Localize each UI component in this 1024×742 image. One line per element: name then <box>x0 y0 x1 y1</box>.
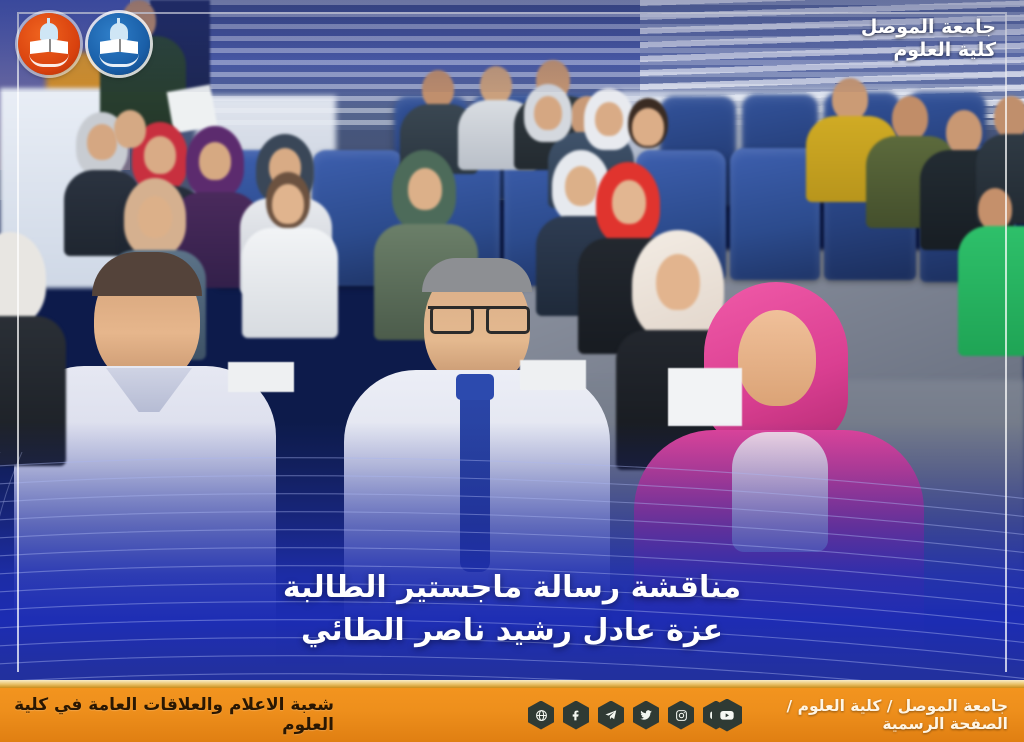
head <box>656 254 700 310</box>
seal-emblem <box>27 22 71 66</box>
footer-top-strip <box>0 680 1024 688</box>
seal-arc <box>99 53 139 67</box>
event-title-block: مناقشة رسالة ماجستير الطالبة عزة عادل رش… <box>0 568 1024 650</box>
head <box>595 102 623 136</box>
face <box>632 108 664 146</box>
head <box>408 168 442 210</box>
college-name: كلية العلوم <box>861 39 996 62</box>
seal-arc <box>29 53 69 67</box>
college-of-science-seal-icon <box>88 13 150 75</box>
official-page-label: جامعة الموصل / كلية العلوم / الصفحة الرس… <box>740 697 1008 733</box>
facebook-icon[interactable] <box>563 701 589 730</box>
hair <box>422 258 532 292</box>
head <box>946 110 982 154</box>
face <box>272 184 304 224</box>
telegram-icon[interactable] <box>598 701 624 730</box>
university-name: جامعة الموصل <box>861 16 996 39</box>
head <box>978 188 1012 230</box>
paper-on-seat <box>668 368 742 426</box>
head <box>994 96 1024 138</box>
poster-root: جامعة الموصل كلية العلوم مناقشة رسالة ما… <box>0 0 1024 742</box>
event-title-line2: عزة عادل رشيد ناصر الطائي <box>0 611 1024 650</box>
dome-shape <box>40 23 58 40</box>
tie-knot <box>456 374 494 400</box>
open-book-shape <box>30 39 68 54</box>
instagram-icon[interactable] <box>668 701 694 730</box>
paper-on-seat <box>228 362 294 392</box>
paper-on-seat <box>520 360 586 390</box>
glasses-lens-right <box>486 306 530 334</box>
glasses-lens-left <box>430 306 474 334</box>
twitter-icon[interactable] <box>633 701 659 730</box>
head <box>565 166 597 206</box>
head <box>87 124 117 160</box>
head <box>199 142 231 180</box>
footer-bar: شعبة الاعلام والعلاقات العامة في كلية ال… <box>0 688 1024 742</box>
head <box>738 310 816 406</box>
head <box>114 110 146 148</box>
open-book-shape <box>100 39 138 54</box>
torso <box>958 226 1024 356</box>
head <box>144 136 176 174</box>
website-icon[interactable] <box>528 701 554 730</box>
head <box>138 196 172 238</box>
dome-shape <box>110 23 128 40</box>
university-name-block: جامعة الموصل كلية العلوم <box>861 16 996 62</box>
head <box>612 180 646 224</box>
university-of-mosul-seal-icon <box>18 13 80 75</box>
seal-emblem <box>97 22 141 66</box>
event-title-line1: مناقشة رسالة ماجستير الطالبة <box>0 568 1024 607</box>
logo-group <box>18 13 150 75</box>
head <box>892 96 928 140</box>
footer-department-label: شعبة الاعلام والعلاقات العامة في كلية ال… <box>14 695 334 735</box>
torso <box>242 228 338 338</box>
head <box>534 96 562 130</box>
social-icons-group[interactable] <box>528 701 729 730</box>
